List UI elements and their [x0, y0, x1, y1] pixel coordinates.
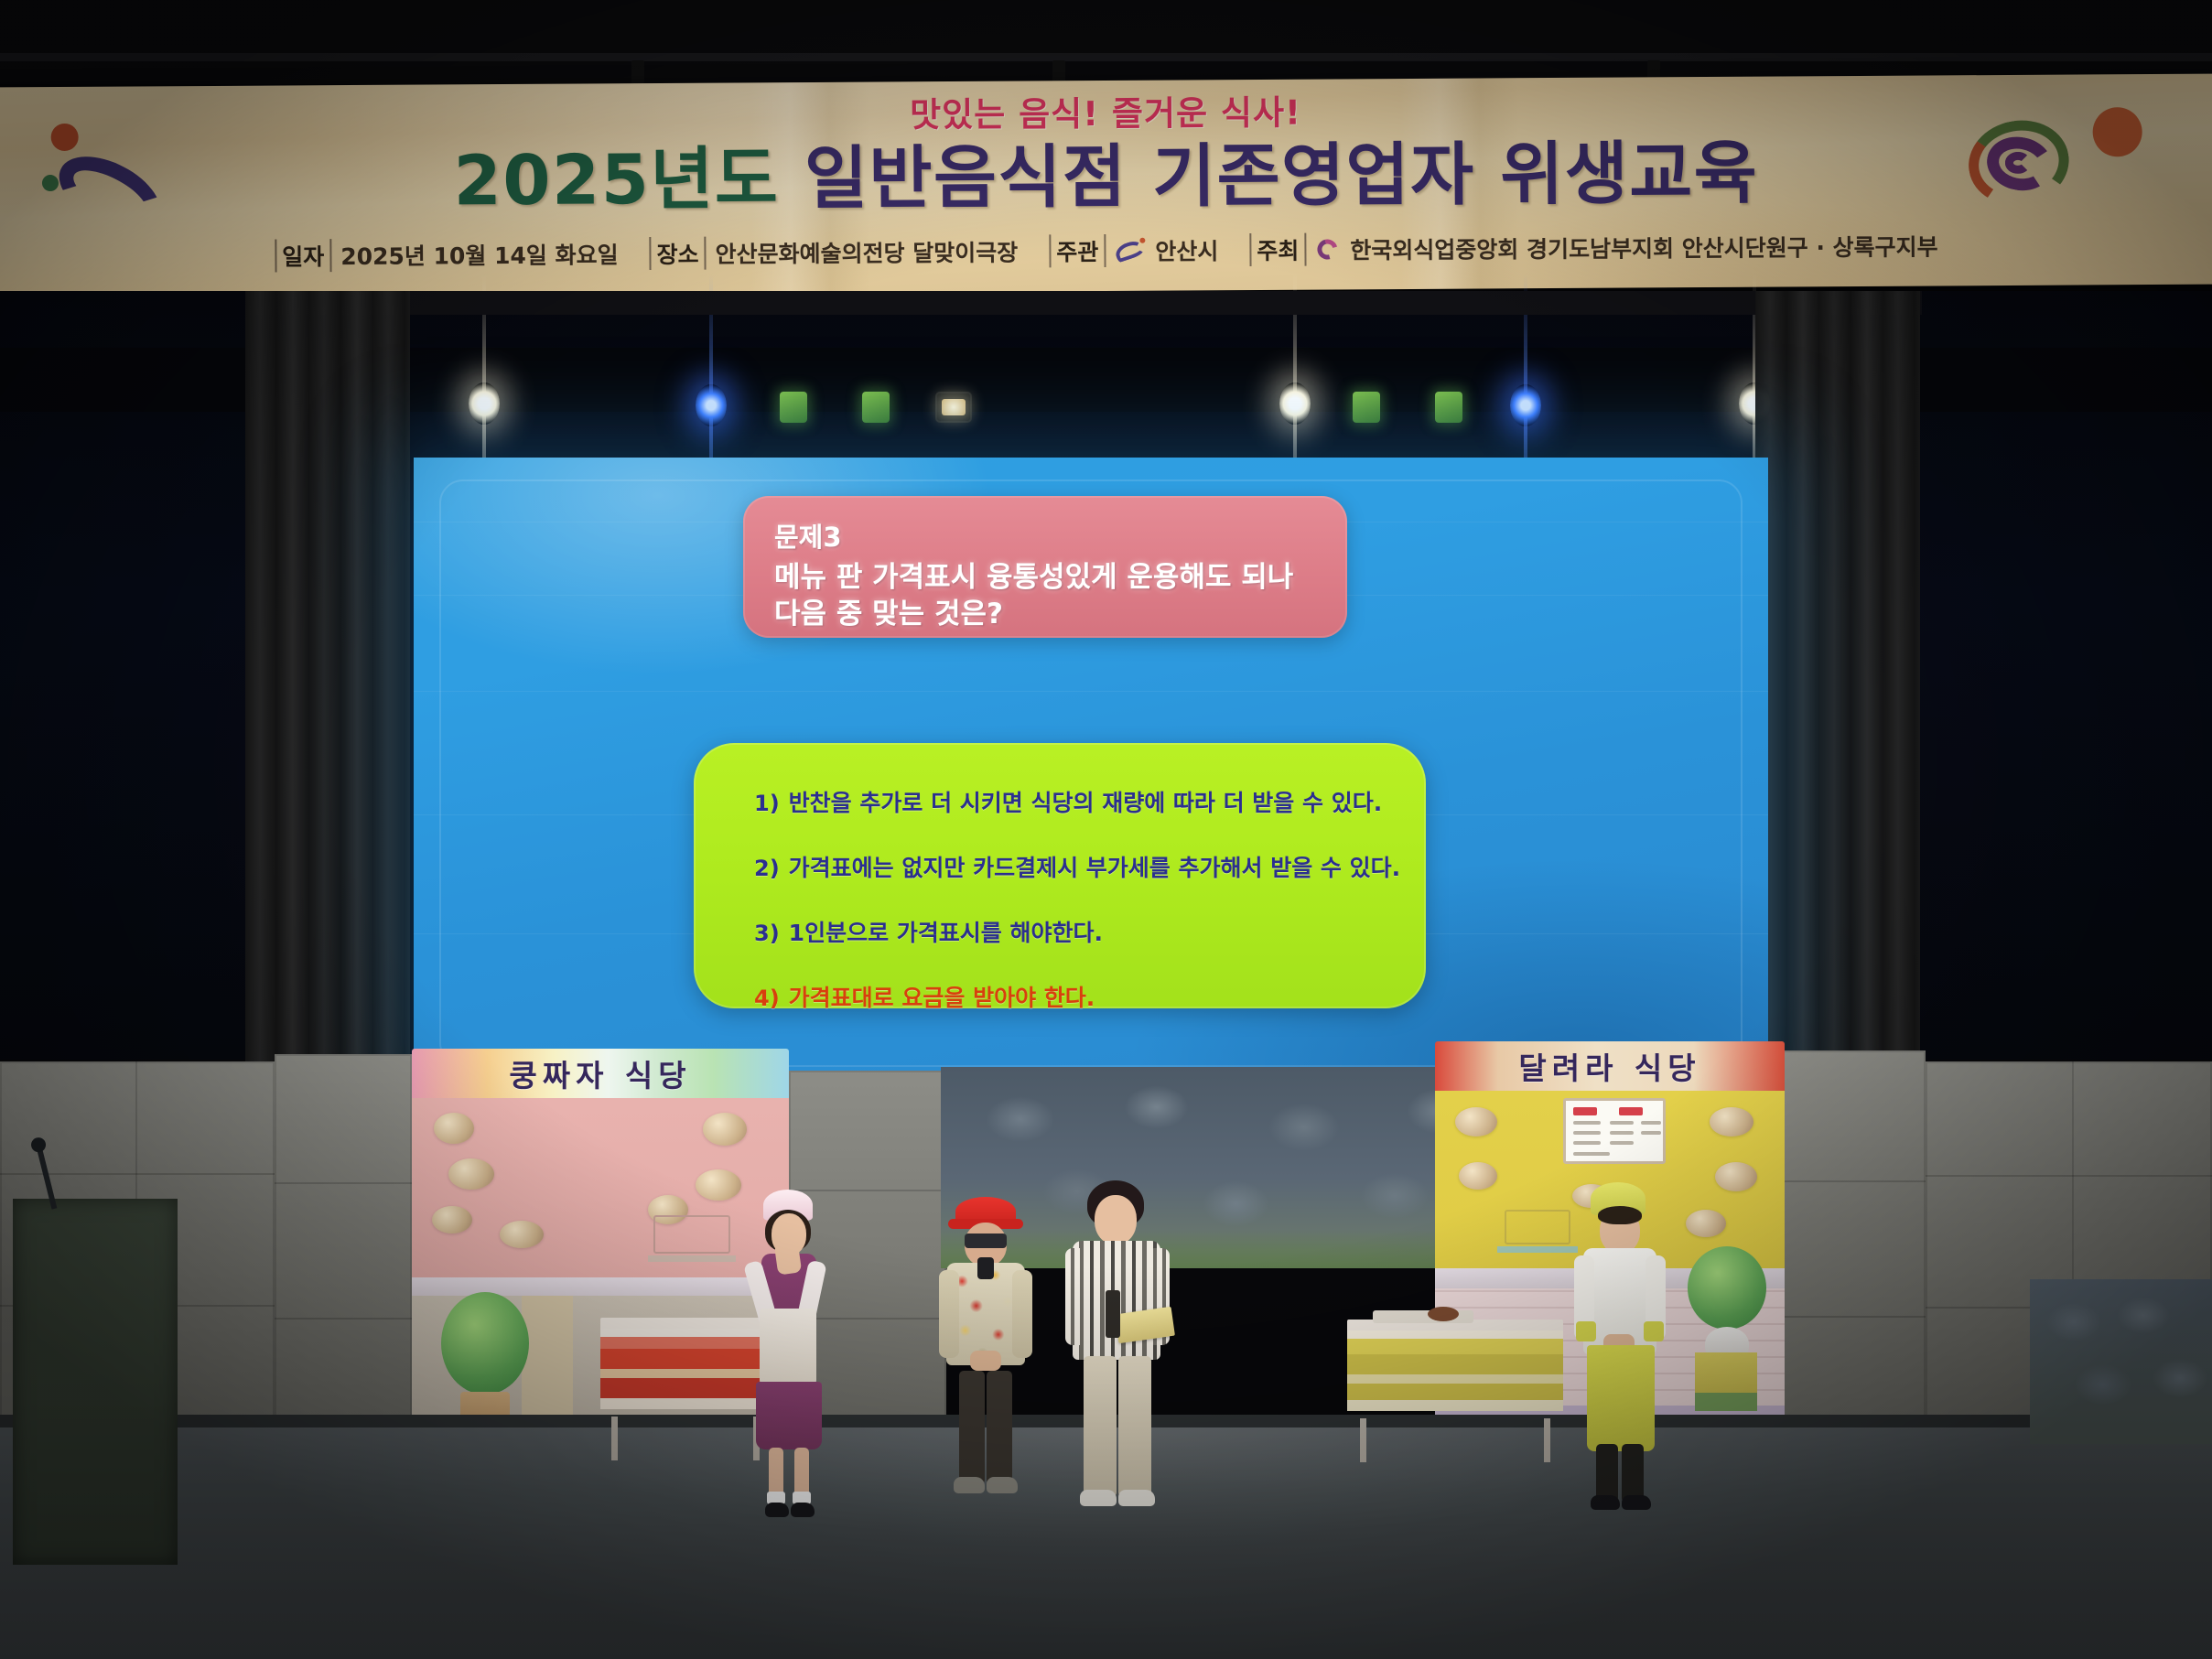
dish-icon [500, 1221, 544, 1248]
answer-option-3: 3) 1인분으로 가격표시를 해야한다. [754, 915, 1426, 948]
performer-striped-shirt [1063, 1180, 1173, 1528]
stage-light-green-4 [1435, 392, 1462, 423]
dish-icon [434, 1113, 474, 1144]
menu-board [1563, 1098, 1666, 1164]
stage-light-amber-1 [935, 392, 972, 423]
banner-info-item-host: 주관 안산시 [1049, 233, 1218, 267]
dish-icon [1710, 1107, 1753, 1137]
banner-info-item-venue: 장소 안산문화예술의전당 달맞이극장 [649, 235, 1018, 270]
stage-photo: 맛있는 음식! 즐거운 식사! 2025년도 일반음식점 기존영업자 위생교육 … [0, 0, 2212, 1659]
dish-icon [1715, 1162, 1757, 1191]
ansan-city-logo-icon [1115, 241, 1146, 261]
banner-info-item-organizer: 주최 한국외식업중앙회 경기도남부지회 안산시단원구 · 상록구지부 [1249, 229, 1938, 266]
question-box: 문제3 메뉴 판 가격표시 융통성있게 운용해도 되나 다음 중 맞는 것은? [743, 496, 1347, 638]
answer-option-2-text: 가격표에는 없지만 카드결제시 부가세를 추가해서 받을 수 있다. [789, 850, 1400, 883]
stage-light-green-2 [862, 392, 890, 423]
stage-light-blue-1 [696, 384, 727, 434]
potted-plant-left [441, 1292, 529, 1435]
performer-chef [1572, 1182, 1667, 1521]
dish-icon [432, 1206, 472, 1233]
shop-right-sign: 달려라 식당 [1435, 1041, 1785, 1091]
dish-icon [1686, 1210, 1726, 1237]
banner-info-item-date: 일자 2025년 10월 14일 화요일 [275, 237, 619, 272]
table-right [1347, 1320, 1563, 1420]
curtain-header [245, 291, 1922, 315]
banner-title-rest: 일반음식점 기존영업자 위생교육 [804, 133, 1759, 219]
association-logo-icon [1315, 237, 1341, 261]
stage-curtain-left [245, 291, 410, 1096]
ceiling-truss [0, 0, 2212, 84]
question-line-2: 다음 중 맞는 것은? [774, 596, 1316, 632]
question-line-1: 메뉴 판 가격표시 융통성있게 운용해도 되나 [774, 559, 1316, 596]
dish-icon [1459, 1162, 1497, 1190]
answer-options-box: 1) 반찬을 추가로 더 시키면 식당의 재량에 따라 더 받을 수 있다. 2… [694, 743, 1426, 1008]
banner-title-year: 2025년도 [453, 138, 779, 221]
answer-option-3-text: 1인분으로 가격표시를 해야한다. [789, 915, 1103, 948]
potted-plant-right [1688, 1246, 1766, 1362]
dish-icon [1455, 1107, 1497, 1137]
banner-title: 2025년도 일반음식점 기존영업자 위생교육 [0, 114, 2212, 228]
answer-option-2: 2) 가격표에는 없지만 카드결제시 부가세를 추가해서 받을 수 있다. [754, 850, 1426, 883]
event-banner: 맛있는 음식! 즐거운 식사! 2025년도 일반음식점 기존영업자 위생교육 … [0, 74, 2212, 298]
stage-light-blue-2 [1510, 384, 1541, 434]
podium-prop-left [13, 1199, 178, 1565]
performer-waitress [743, 1190, 835, 1519]
performer-red-cap [935, 1197, 1036, 1517]
question-number: 문제3 [774, 516, 1316, 555]
stage-light-white-1 [469, 382, 500, 432]
rock-prop-right [2030, 1279, 2212, 1444]
answer-option-4-correct: 4) 가격표대로 요금을 받아야 한다. [754, 980, 1426, 1013]
bowl-prop [1428, 1307, 1459, 1321]
chef-apron [1587, 1345, 1655, 1451]
dish-icon [703, 1113, 747, 1146]
wall-block-left-inner [275, 1054, 412, 1446]
stage-light-green-1 [780, 392, 807, 423]
stage-light-green-3 [1353, 392, 1380, 423]
dish-icon [448, 1158, 494, 1190]
wall-block-right-inner [1779, 1050, 1926, 1446]
shop-left-sign: 쿵짜자 식당 [412, 1049, 789, 1098]
stage-light-white-2 [1279, 382, 1311, 432]
answer-option-4-text: 가격표대로 요금을 받아야 한다. [789, 980, 1095, 1013]
banner-info-row: 일자 2025년 10월 14일 화요일 장소 안산문화예술의전당 달맞이극장 … [0, 228, 2212, 275]
dish-icon [696, 1169, 741, 1201]
answer-option-1-text: 반찬을 추가로 더 시키면 식당의 재량에 따라 더 받을 수 있다. [789, 785, 1383, 818]
apron [760, 1309, 816, 1387]
projection-screen: 문제3 메뉴 판 가격표시 융통성있게 운용해도 되나 다음 중 맞는 것은? … [414, 458, 1768, 1089]
stage-curtain-right [1755, 291, 1920, 1096]
answer-option-1: 1) 반찬을 추가로 더 시키면 식당의 재량에 따라 더 받을 수 있다. [754, 785, 1426, 818]
